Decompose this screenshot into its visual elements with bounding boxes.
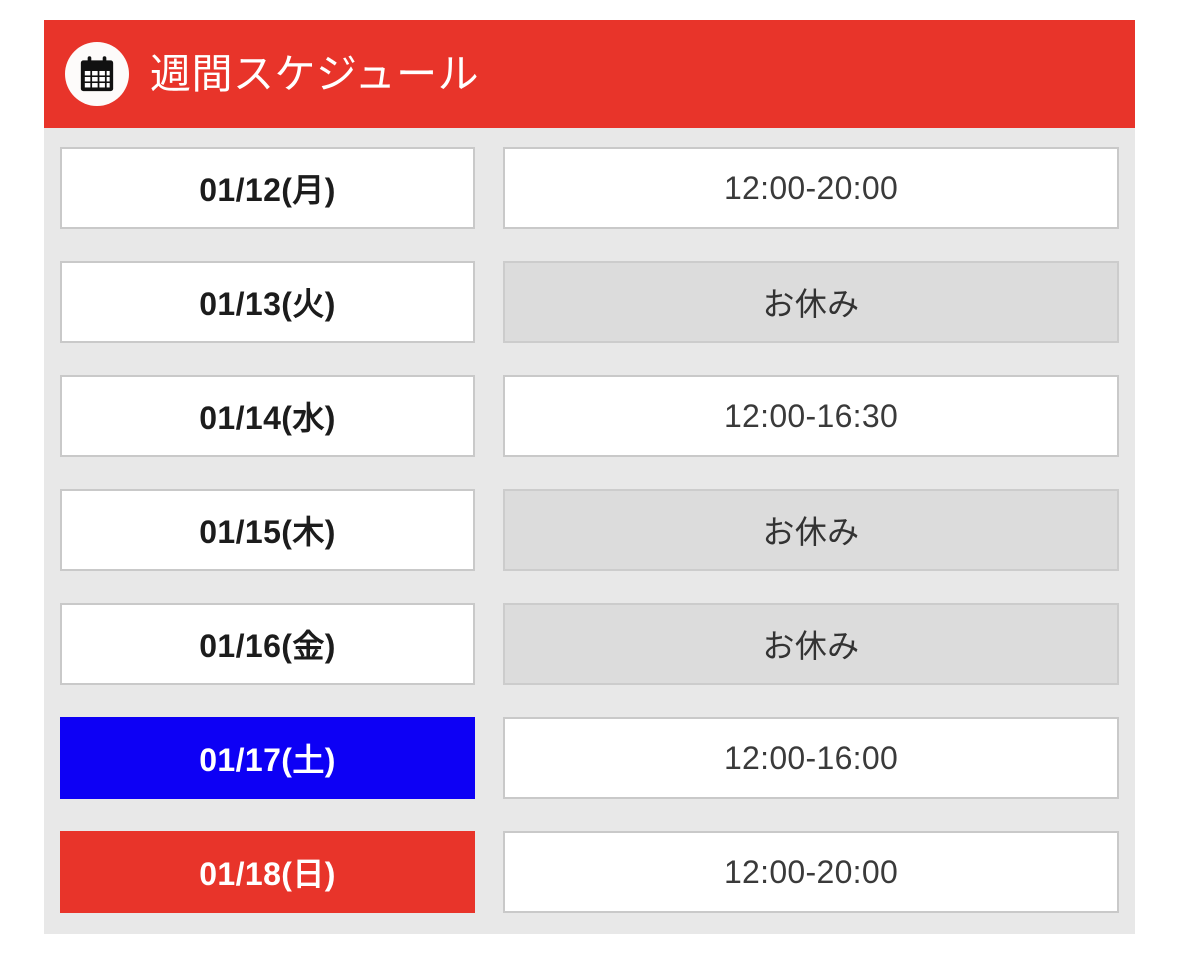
schedule-date-cell[interactable]: 01/15(木) <box>60 489 475 571</box>
page-title: 週間スケジュール <box>150 54 479 95</box>
column-gap <box>475 831 503 913</box>
table-row: 01/15(木) お休み <box>60 489 1119 571</box>
screen-root: 週間スケジュール 01/12(月) 12:00-20:00 01/13(火) お… <box>0 0 1179 970</box>
table-row: 01/14(水) 12:00-16:30 <box>60 375 1119 457</box>
column-gap <box>475 375 503 457</box>
widget-header: 週間スケジュール <box>44 20 1135 128</box>
table-row: 01/17(土) 12:00-16:00 <box>60 717 1119 799</box>
schedule-date-cell-saturday[interactable]: 01/17(土) <box>60 717 475 799</box>
column-gap <box>475 717 503 799</box>
schedule-date-cell[interactable]: 01/13(火) <box>60 261 475 343</box>
schedule-list: 01/12(月) 12:00-20:00 01/13(火) お休み 01/14(… <box>44 128 1135 934</box>
table-row: 01/18(日) 12:00-20:00 <box>60 831 1119 913</box>
schedule-time-cell[interactable]: お休み <box>503 489 1119 571</box>
calendar-icon <box>65 42 129 106</box>
table-row: 01/12(月) 12:00-20:00 <box>60 147 1119 229</box>
column-gap <box>475 147 503 229</box>
schedule-time-cell[interactable]: お休み <box>503 603 1119 685</box>
schedule-date-cell[interactable]: 01/12(月) <box>60 147 475 229</box>
schedule-date-cell[interactable]: 01/14(水) <box>60 375 475 457</box>
schedule-date-cell-sunday[interactable]: 01/18(日) <box>60 831 475 913</box>
schedule-time-cell[interactable]: 12:00-16:30 <box>503 375 1119 457</box>
schedule-time-cell[interactable]: お休み <box>503 261 1119 343</box>
schedule-time-cell[interactable]: 12:00-20:00 <box>503 831 1119 913</box>
schedule-time-cell[interactable]: 12:00-20:00 <box>503 147 1119 229</box>
column-gap <box>475 261 503 343</box>
schedule-time-cell[interactable]: 12:00-16:00 <box>503 717 1119 799</box>
column-gap <box>475 603 503 685</box>
table-row: 01/16(金) お休み <box>60 603 1119 685</box>
schedule-date-cell[interactable]: 01/16(金) <box>60 603 475 685</box>
table-row: 01/13(火) お休み <box>60 261 1119 343</box>
column-gap <box>475 489 503 571</box>
weekly-schedule-widget: 週間スケジュール 01/12(月) 12:00-20:00 01/13(火) お… <box>44 20 1135 934</box>
